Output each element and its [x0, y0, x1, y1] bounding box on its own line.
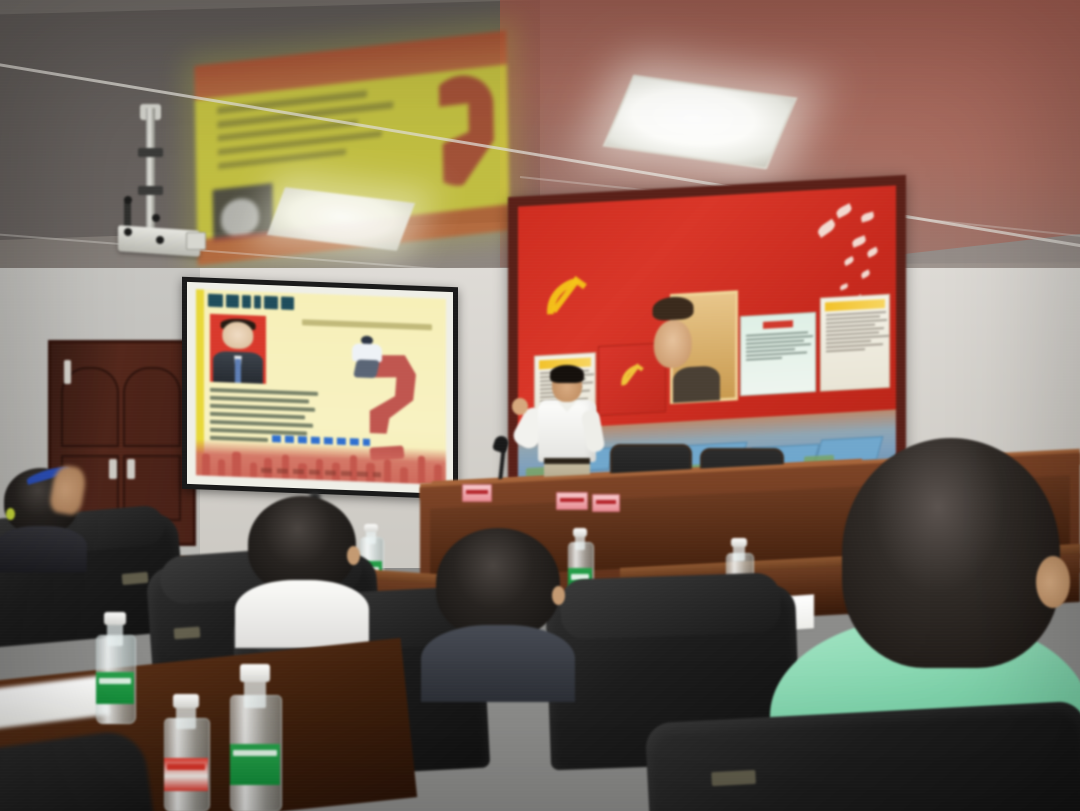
door-lock-plate [64, 360, 71, 384]
bottle-cap [173, 694, 199, 708]
earring [6, 508, 15, 520]
door-handle[interactable] [109, 459, 117, 479]
slide-portrait-tie [235, 358, 241, 383]
name-card [556, 492, 588, 510]
projector-bolt [156, 236, 164, 244]
bottle-cap [364, 524, 377, 532]
portrait-jacket [673, 365, 720, 403]
slide-seated-figure [352, 335, 382, 378]
projected-slide [196, 289, 446, 485]
panel-text-line [826, 348, 865, 352]
dove-icon [860, 211, 874, 222]
attendee-man-dark-shirt [436, 528, 560, 638]
dove-icon [860, 269, 871, 278]
presenter-belt [544, 458, 590, 464]
slide-portrait-photo [210, 314, 266, 384]
slide-portrait-face [222, 321, 253, 349]
bottle-cap [731, 538, 747, 547]
dove-icon [851, 235, 867, 248]
conference-room-photo [0, 0, 1080, 811]
reflection-question-mark [427, 72, 495, 189]
attendee-man-white-shirt [248, 496, 356, 592]
dove-icon [843, 256, 855, 266]
projector-bolt [124, 196, 132, 204]
attendee-hair [436, 528, 560, 638]
slide-crowd-silhouette [196, 439, 446, 485]
door-handle[interactable] [127, 459, 135, 479]
panel-header-bar [825, 299, 885, 311]
figure-legs [353, 360, 380, 378]
projector-bolt [152, 214, 160, 222]
attendee-clothing [0, 526, 87, 572]
water-bottle[interactable] [164, 694, 208, 811]
presenter-hand [512, 398, 528, 415]
attendee-ear [552, 586, 565, 605]
dove-icon [816, 219, 837, 238]
name-card [462, 484, 492, 502]
bottle-label [230, 744, 280, 785]
projector-lens [186, 232, 206, 250]
portrait-hair [653, 296, 694, 321]
projector-pole-band [138, 148, 163, 157]
bottle-cap [240, 664, 270, 682]
projection-screen [182, 277, 458, 500]
panel-title-bar [763, 320, 793, 329]
mural-portrait-mao [670, 290, 738, 404]
bottle-label [96, 672, 134, 703]
door-panel [123, 367, 181, 447]
attendee-hair [842, 438, 1060, 668]
chair-label-plate [174, 627, 201, 640]
screen-surface [187, 282, 453, 494]
mural-quotation-panel [740, 312, 816, 396]
water-bottle[interactable] [96, 612, 134, 724]
attendee-man-green-polo [842, 438, 1060, 668]
chair-label-plate [122, 572, 149, 585]
panel-text-line [826, 343, 883, 348]
hammer-sickle-emblem [534, 260, 600, 330]
chair-headrest [560, 572, 782, 640]
attendee-clothing [421, 625, 575, 702]
attendee-ear [347, 546, 360, 565]
mural-document-panel-right [820, 294, 890, 392]
bottle-label [164, 758, 208, 791]
slide-subtitle [302, 319, 432, 330]
panel-text-line [746, 357, 782, 361]
attendee-ear [1036, 556, 1070, 608]
flag-hammer-sickle-icon [613, 354, 651, 394]
dove-icon [839, 283, 848, 290]
presenter-hair [550, 365, 584, 383]
name-card [592, 494, 620, 512]
portrait-face [654, 319, 692, 369]
attendee-clothing [235, 580, 369, 647]
projector-pole-band [138, 186, 163, 195]
dove-icon [866, 247, 879, 258]
attendee-hair [248, 496, 356, 592]
dove-icon [835, 203, 853, 218]
water-bottle[interactable] [230, 664, 280, 811]
projector-bolt [124, 228, 132, 236]
bottle-cap [104, 612, 127, 625]
bottle-cap [573, 528, 587, 537]
chair-label-plate [711, 770, 756, 786]
